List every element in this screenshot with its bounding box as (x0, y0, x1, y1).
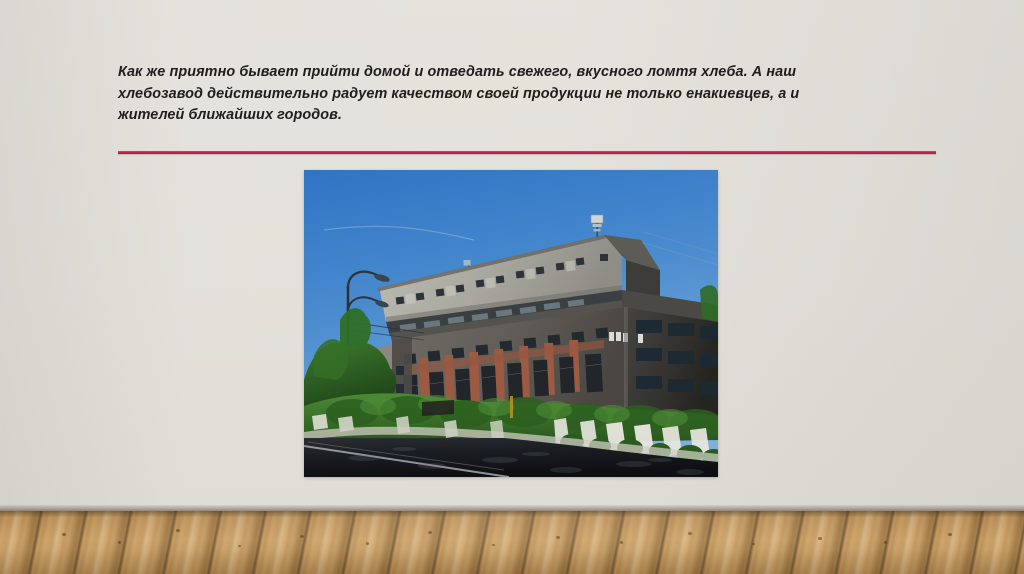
wooden-floor (0, 511, 1024, 574)
factory-photo-illustration (304, 170, 718, 477)
factory-photograph (304, 170, 718, 477)
floor-shading (0, 511, 1024, 574)
body-line-1: Как же приятно бывает прийти домой и отв… (118, 62, 936, 84)
body-line-3: жителей ближайших городов. (118, 105, 936, 127)
slide-body-text: Как же приятно бывает прийти домой и отв… (118, 62, 936, 127)
body-line-2: хлебозавод действительно радует качество… (118, 84, 936, 106)
accent-divider-line (118, 151, 936, 154)
presentation-slide: Как же приятно бывает прийти домой и отв… (0, 0, 1024, 574)
